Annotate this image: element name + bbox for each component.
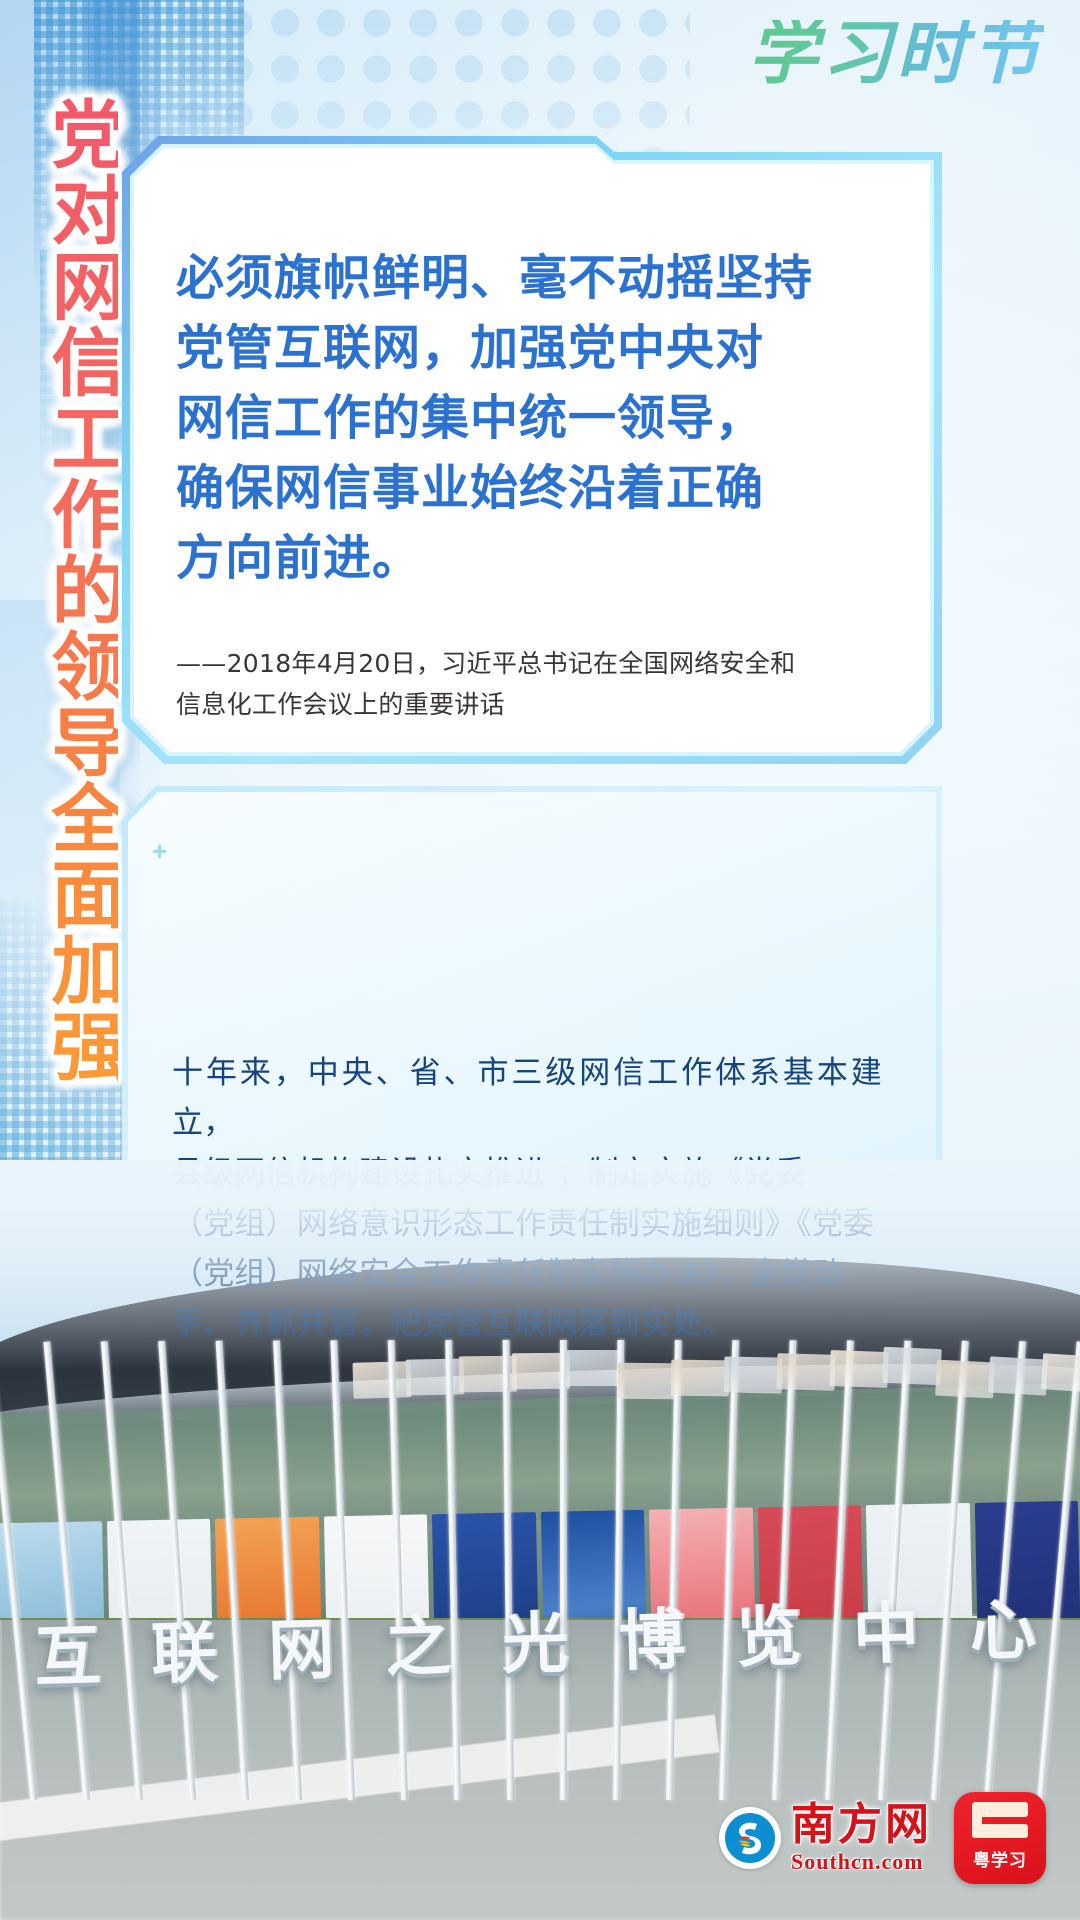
plus-decoration-icon: + [152,838,167,864]
flag-pole [931,1341,969,1800]
poster-root: 互 联 网 之 光 博 览 中 心 学习时节 党对网信工作的领导全面加强 必须旗… [0,0,1080,1920]
flag-pole [1037,1341,1080,1800]
quote-text: 必须旗帜鲜明、毫不动摇坚持 党管互联网，加强党中央对 网信工作的集中统一领导， … [176,244,876,594]
quote-line: 确保网信事业始终沿着正确 [176,454,876,524]
body-line: 十年来，中央、省、市三级网信工作体系基本建立， [172,1048,882,1148]
flag-pole [330,1340,355,1800]
quote-line: 网信工作的集中统一领导， [176,384,876,454]
flag-pole [560,1340,567,1800]
yuexuexi-app-logo[interactable]: 粤学习 [954,1792,1046,1884]
flag-pole [878,1341,911,1801]
brand-logo: 学习时节 [748,20,1044,90]
flag-pole [388,1340,408,1800]
photo-top-fade [0,1160,1080,1370]
flag-pole [772,1340,797,1800]
southcn-wordmark: 南方网 Southcn.com [791,1802,932,1874]
quote-source-line: ——2018年4月20日，习近平总书记在全国网络安全和 [176,644,856,685]
southcn-en-name: Southcn.com [791,1850,924,1874]
southcn-cn-name: 南方网 [791,1802,932,1848]
footer-logos: 南方网 Southcn.com 粤学习 [719,1792,1046,1884]
photo-flag-poles [0,1340,1080,1800]
quote-source: ——2018年4月20日，习近平总书记在全国网络安全和 信息化工作会议上的重要讲… [176,644,856,725]
flag-pole [984,1341,1026,1800]
flag-pole [613,1340,624,1800]
flag-pole [273,1340,302,1800]
flag-pole [158,1341,196,1800]
flag-pole [666,1340,682,1800]
yuexuexi-glyph-stem [972,1802,982,1838]
quote-line: 党管互联网，加强党中央对 [176,314,876,384]
flag-pole [719,1340,739,1800]
flag-pole [445,1340,461,1800]
flag-pole [825,1340,854,1800]
flag-pole [216,1341,249,1801]
flag-pole [43,1341,90,1800]
quote-source-line: 信息化工作会议上的重要讲话 [176,685,856,726]
southcn-logo[interactable]: 南方网 Southcn.com [719,1802,932,1874]
quote-line: 方向前进。 [176,524,876,594]
page-title-vertical: 党对网信工作的领导全面加强 [26,96,118,1084]
yuexuexi-label: 粤学习 [973,1846,1027,1871]
quote-line: 必须旗帜鲜明、毫不动摇坚持 [176,244,876,314]
southcn-mark-icon [719,1807,781,1869]
flag-pole [101,1341,143,1800]
flag-pole [0,1342,37,1801]
yuexuexi-glyph-icon [972,1802,1028,1842]
flag-pole [503,1340,514,1800]
